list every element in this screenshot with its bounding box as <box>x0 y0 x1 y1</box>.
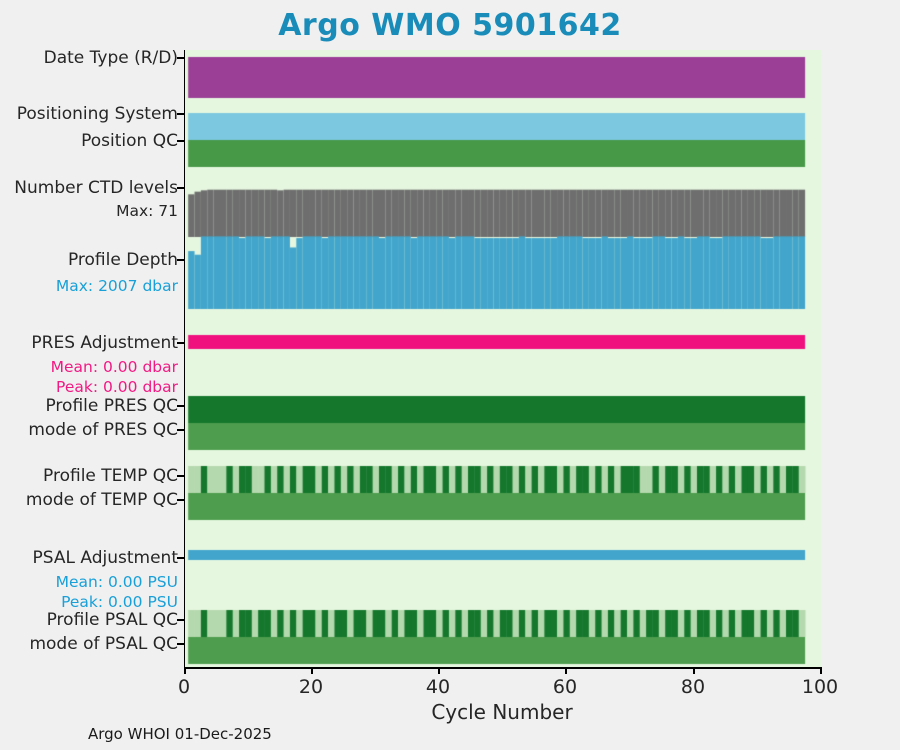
ytick-profile-depth <box>177 259 184 261</box>
label-psal-adjustment: PSAL Adjustment <box>0 548 178 568</box>
xtick-100 <box>820 667 822 674</box>
label-position-qc: Position QC <box>0 131 178 151</box>
ytick-mode-pres-qc <box>177 429 184 431</box>
xtick-label-100: 100 <box>802 676 838 698</box>
label-profile-psal-qc: Profile PSAL QC <box>0 610 178 630</box>
xtick-0 <box>184 667 186 674</box>
label-mode-pres-qc: mode of PRES QC <box>0 420 178 440</box>
label-psal-mean: Mean: 0.00 PSU <box>0 573 178 591</box>
xtick-40 <box>438 667 440 674</box>
label-mode-psal-qc: mode of PSAL QC <box>0 634 178 654</box>
label-date-type: Date Type (R/D) <box>0 48 178 68</box>
footer-credit: Argo WHOI 01-Dec-2025 <box>88 725 272 743</box>
label-ctd-levels-max: Max: 71 <box>0 202 178 220</box>
label-pres-peak: Peak: 0.00 dbar <box>0 378 178 396</box>
ytick-date-type <box>177 57 184 59</box>
xtick-label-60: 60 <box>553 676 577 698</box>
label-profile-temp-qc: Profile TEMP QC <box>0 466 178 486</box>
label-pres-adjustment: PRES Adjustment <box>0 333 178 353</box>
xtick-label-40: 40 <box>426 676 450 698</box>
x-axis-line <box>184 667 820 669</box>
ytick-mode-psal-qc <box>177 643 184 645</box>
x-axis-label: Cycle Number <box>184 700 820 724</box>
xtick-label-80: 80 <box>681 676 705 698</box>
ytick-pres-adjustment <box>177 342 184 344</box>
ytick-mode-temp-qc <box>177 499 184 501</box>
label-positioning-system: Positioning System <box>0 104 178 124</box>
xtick-label-0: 0 <box>178 676 190 698</box>
ytick-position-qc <box>177 140 184 142</box>
label-profile-depth: Profile Depth <box>0 250 178 270</box>
ytick-number-ctd-levels <box>177 187 184 189</box>
ytick-psal-adjustment <box>177 557 184 559</box>
xtick-60 <box>565 667 567 674</box>
chart-canvas <box>185 50 821 667</box>
page-title: Argo WMO 5901642 <box>0 8 900 43</box>
ytick-positioning-system <box>177 113 184 115</box>
label-profile-pres-qc: Profile PRES QC <box>0 396 178 416</box>
argo-float-summary-figure: Argo WMO 5901642 Date Type (R/D) Positio… <box>0 0 900 750</box>
xtick-label-20: 20 <box>299 676 323 698</box>
xtick-80 <box>693 667 695 674</box>
label-psal-peak: Peak: 0.00 PSU <box>0 593 178 611</box>
plot-area <box>184 50 821 667</box>
ytick-profile-psal-qc <box>177 619 184 621</box>
ytick-profile-pres-qc <box>177 405 184 407</box>
ytick-profile-temp-qc <box>177 475 184 477</box>
label-number-ctd-levels: Number CTD levels <box>0 178 178 198</box>
label-profile-depth-max: Max: 2007 dbar <box>0 277 178 295</box>
label-mode-temp-qc: mode of TEMP QC <box>0 490 178 510</box>
xtick-20 <box>311 667 313 674</box>
label-pres-mean: Mean: 0.00 dbar <box>0 358 178 376</box>
